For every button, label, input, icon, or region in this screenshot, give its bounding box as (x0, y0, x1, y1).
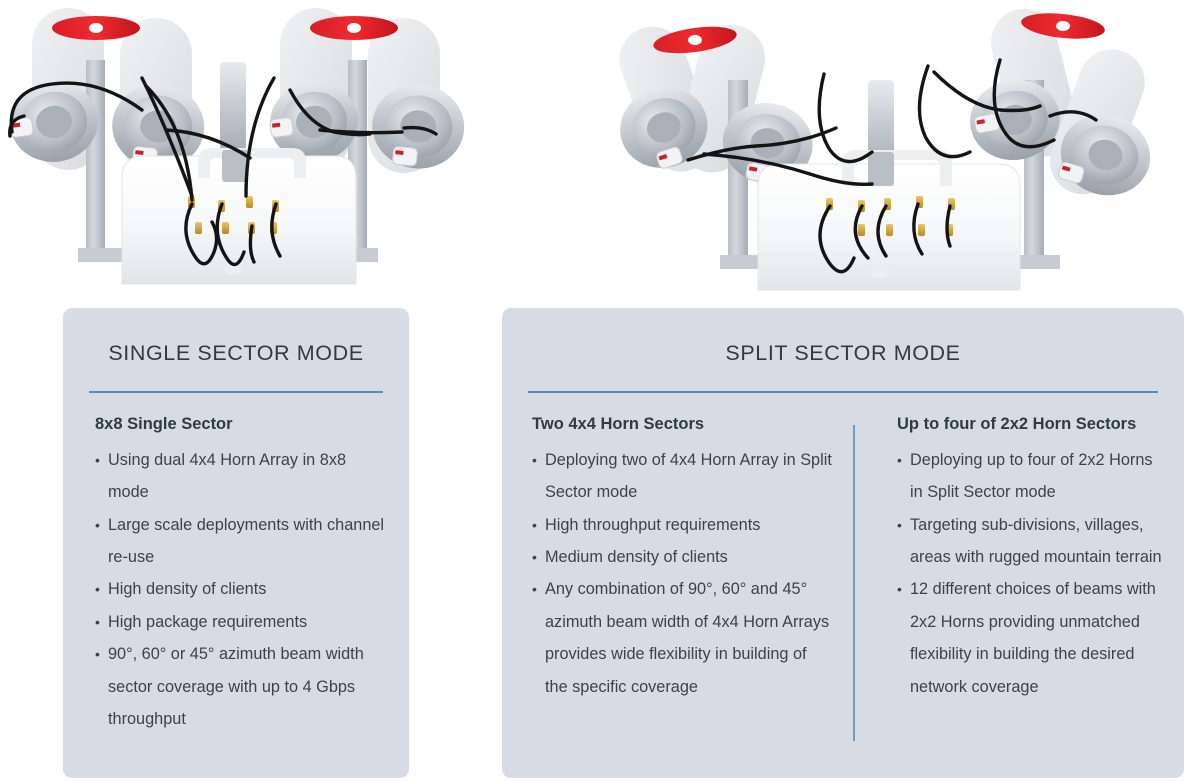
split-sector-product-image (580, 0, 1200, 300)
card-columns: 8x8 Single Sector Using dual 4x4 Horn Ar… (63, 393, 409, 735)
list-item: Deploying two of 4x4 Horn Array in Split… (532, 444, 833, 509)
bullet-list: Deploying up to four of 2x2 Horns in Spl… (897, 444, 1166, 703)
bullet-list: Using dual 4x4 Horn Array in 8x8 mode La… (95, 444, 387, 736)
list-item: Deploying up to four of 2x2 Horns in Spl… (897, 444, 1166, 509)
split-sector-mode-card: SPLIT SECTOR MODE Two 4x4 Horn Sectors D… (502, 308, 1184, 778)
list-item: Medium density of clients (532, 541, 833, 573)
list-item: 12 different choices of beams with 2x2 H… (897, 573, 1166, 703)
column-8x8-single-sector: 8x8 Single Sector Using dual 4x4 Horn Ar… (63, 415, 409, 735)
card-title-split-sector: SPLIT SECTOR MODE (502, 308, 1184, 366)
product-photo-row (0, 0, 1200, 310)
bullet-list: Deploying two of 4x4 Horn Array in Split… (532, 444, 833, 703)
column-heading: Up to four of 2x2 Horn Sectors (897, 415, 1166, 435)
column-two-4x4-horn-sectors: Two 4x4 Horn Sectors Deploying two of 4x… (502, 415, 855, 703)
column-heading: Two 4x4 Horn Sectors (532, 415, 833, 435)
card-title-single-sector: SINGLE SECTOR MODE (63, 308, 409, 366)
column-heading: 8x8 Single Sector (95, 415, 387, 435)
list-item: Targeting sub-divisions, villages, areas… (897, 509, 1166, 574)
diagram-canvas: SINGLE SECTOR MODE 8x8 Single Sector Usi… (0, 0, 1200, 781)
single-sector-mode-card: SINGLE SECTOR MODE 8x8 Single Sector Usi… (63, 308, 409, 778)
card-columns: Two 4x4 Horn Sectors Deploying two of 4x… (502, 393, 1184, 703)
list-item: Any combination of 90°, 60° and 45° azim… (532, 573, 833, 703)
column-up-to-four-2x2-horn-sectors: Up to four of 2x2 Horn Sectors Deploying… (855, 415, 1184, 703)
list-item: High package requirements (95, 606, 387, 638)
column-divider (853, 425, 855, 741)
list-item: 90°, 60° or 45° azimuth beam width secto… (95, 638, 387, 735)
list-item: High throughput requirements (532, 509, 833, 541)
list-item: High density of clients (95, 573, 387, 605)
list-item: Large scale deployments with channel re-… (95, 509, 387, 574)
list-item: Using dual 4x4 Horn Array in 8x8 mode (95, 444, 387, 509)
single-sector-product-image (0, 0, 510, 300)
